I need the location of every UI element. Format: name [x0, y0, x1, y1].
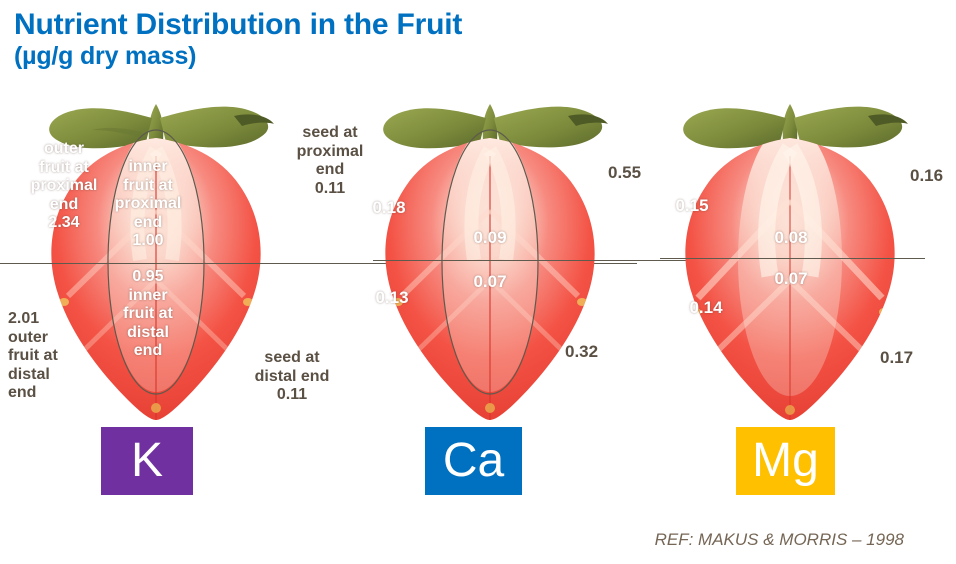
element-chip-ca-label: Ca: [443, 437, 504, 485]
value-inner-distal-ca: 0.07: [461, 272, 519, 292]
value-inner-proximal-ca: 0.09: [461, 228, 519, 248]
title-subtitle: (µg/g dry mass): [14, 42, 462, 70]
equator-line-mg: [660, 258, 925, 259]
fruit-panel-mg: [640, 90, 940, 430]
element-chip-k: K: [101, 427, 193, 495]
strawberry-image-mg: [640, 90, 940, 430]
label-outer-proximal-k: outer fruit at proximal end 2.34: [24, 140, 104, 233]
value-inner-proximal-mg: 0.08: [762, 228, 820, 248]
label-inner-proximal-k: inner fruit at proximal end 1.00: [112, 158, 184, 251]
value-outer-distal-mg: 0.14: [677, 298, 735, 318]
value-inner-distal-mg: 0.07: [762, 269, 820, 289]
value-outer-proximal-mg: 0.15: [663, 196, 721, 216]
page-title: Nutrient Distribution in the Fruit (µg/g…: [14, 8, 462, 70]
value-seed-distal-ca: 0.32: [565, 342, 623, 362]
element-chip-mg-label: Mg: [752, 437, 819, 485]
label-inner-distal-k: 0.95 inner fruit at distal end: [112, 268, 184, 361]
reference-citation: REF: MAKUS & MORRIS – 1998: [655, 530, 904, 550]
element-chip-ca: Ca: [425, 427, 522, 495]
value-outer-proximal-ca: 0.18: [360, 198, 418, 218]
value-outer-distal-ca: 0.13: [363, 288, 421, 308]
label-seed-distal-k: seed at distal end 0.11: [233, 349, 351, 405]
value-seed-distal-mg: 0.17: [880, 348, 938, 368]
element-chip-mg: Mg: [736, 427, 835, 495]
slide-canvas: Nutrient Distribution in the Fruit (µg/g…: [0, 0, 956, 564]
title-main: Nutrient Distribution in the Fruit: [14, 8, 462, 42]
value-seed-proximal-mg: 0.16: [910, 166, 956, 186]
element-chip-k-label: K: [131, 437, 163, 485]
label-outer-distal-k: 2.01 outer fruit at distal end: [8, 310, 98, 403]
